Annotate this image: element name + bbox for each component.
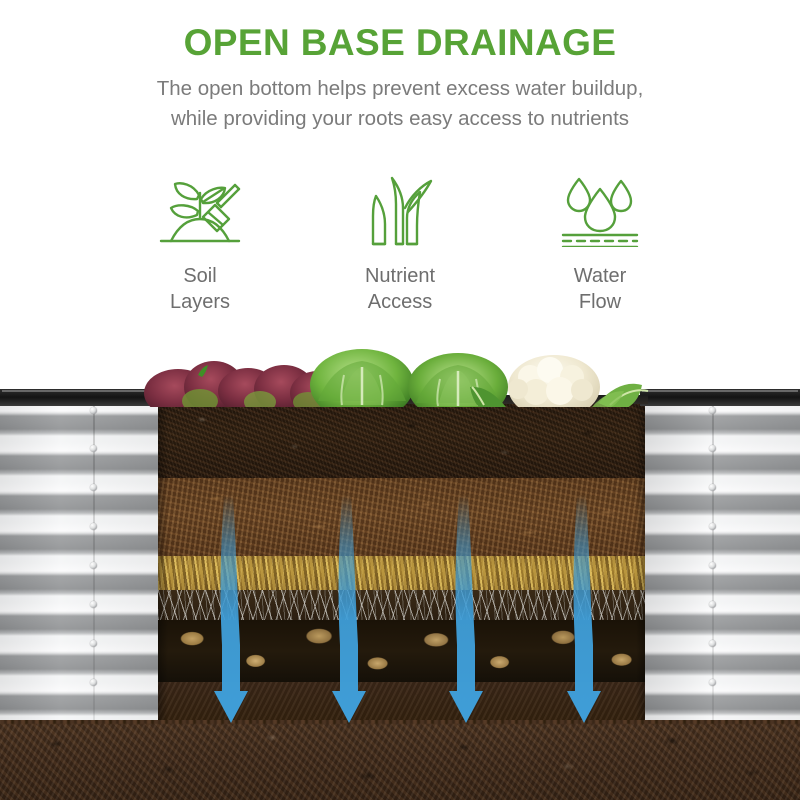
feature-water-flow-label: Water Flow <box>500 263 700 316</box>
feature-label-line-1: Nutrient <box>365 265 435 287</box>
soil-layer-topsoil <box>158 403 646 478</box>
water-flow-arrows <box>0 495 800 755</box>
rivet <box>709 445 716 452</box>
subtitle-line-2: while providing your roots easy access t… <box>50 104 750 133</box>
raised-garden-bed-cutaway <box>0 345 800 800</box>
grass-blades-icon <box>300 172 500 250</box>
bed-rail-highlight-left <box>2 390 162 392</box>
plant-green-cabbage-1 <box>310 349 414 407</box>
product-infographic: OPEN BASE DRAINAGE The open bottom helps… <box>0 0 800 800</box>
rivet <box>709 484 716 491</box>
rivet <box>709 407 716 414</box>
feature-soil-layers: Soil Layers <box>100 172 300 316</box>
header: OPEN BASE DRAINAGE The open bottom helps… <box>0 0 800 133</box>
water-arrow <box>449 495 483 723</box>
plant-sprout-shovel-icon <box>100 172 300 250</box>
water-arrow <box>332 495 366 723</box>
feature-label-line-2: Access <box>300 289 500 315</box>
rivet <box>90 445 97 452</box>
feature-label-line-1: Soil <box>183 265 216 287</box>
feature-label-line-1: Water <box>574 265 627 287</box>
rivet <box>90 407 97 414</box>
page-title: OPEN BASE DRAINAGE <box>0 0 800 63</box>
feature-label-line-2: Layers <box>100 289 300 315</box>
feature-label-line-2: Flow <box>500 289 700 315</box>
feature-water-flow: Water Flow <box>500 172 700 316</box>
scene-mask-left <box>0 345 160 389</box>
feature-nutrient-access-label: Nutrient Access <box>300 263 500 316</box>
rivet <box>90 484 97 491</box>
subtitle-line-1: The open bottom helps prevent excess wat… <box>50 74 750 103</box>
feature-nutrient-access: Nutrient Access <box>300 172 500 316</box>
water-arrow <box>567 495 601 723</box>
feature-list: Soil Layers <box>0 172 800 316</box>
feature-soil-layers-label: Soil Layers <box>100 263 300 316</box>
water-droplets-drainage-icon <box>500 172 700 250</box>
page-subtitle: The open bottom helps prevent excess wat… <box>50 63 750 132</box>
plant-row <box>140 345 670 407</box>
water-arrow <box>214 495 248 723</box>
